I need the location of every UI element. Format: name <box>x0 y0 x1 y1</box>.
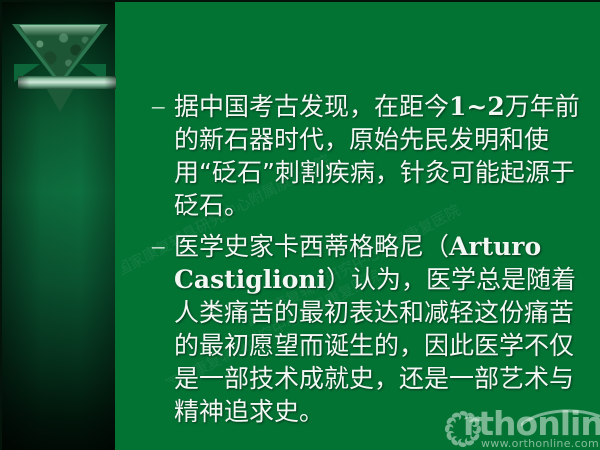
triangle-highlight <box>16 25 104 36</box>
bullet-item: – 据中国考古发现，在距今1~2万年前的新石器时代，原始先民发明和使用“砭石”刺… <box>152 90 582 222</box>
bullet-text: 医学史家卡西蒂格略尼（Arturo Castiglioni）认为，医学总是随着人… <box>174 230 582 428</box>
orthonline-url: www.orthonline.com.cn <box>481 437 600 450</box>
triangle-bottom-tip <box>45 86 75 112</box>
presentation-slide: 国家康复辅具研究中心附属康复医院 国家康复辅具研究中心附属康复医院 国家康复辅具… <box>0 0 600 450</box>
orthonline-swoosh-icon <box>521 409 600 427</box>
bullet-marker: – <box>152 230 174 428</box>
numeric-range: 1~2 <box>449 92 505 121</box>
triangle-emblem-icon <box>12 24 108 100</box>
bullet-marker: – <box>152 90 174 222</box>
latin-name: Arturo Castiglioni <box>174 232 541 294</box>
metallic-bar-shading <box>18 76 116 89</box>
bullet-item: – 医学史家卡西蒂格略尼（Arturo Castiglioni）认为，医学总是随… <box>152 230 582 428</box>
bullet-text: 据中国考古发现，在距今1~2万年前的新石器时代，原始先民发明和使用“砭石”刺割疾… <box>174 90 582 222</box>
orthonline-logo: rthonline www.orthonline.com.cn <box>443 406 600 450</box>
slide-body: – 据中国考古发现，在距今1~2万年前的新石器时代，原始先民发明和使用“砭石”刺… <box>152 90 582 436</box>
